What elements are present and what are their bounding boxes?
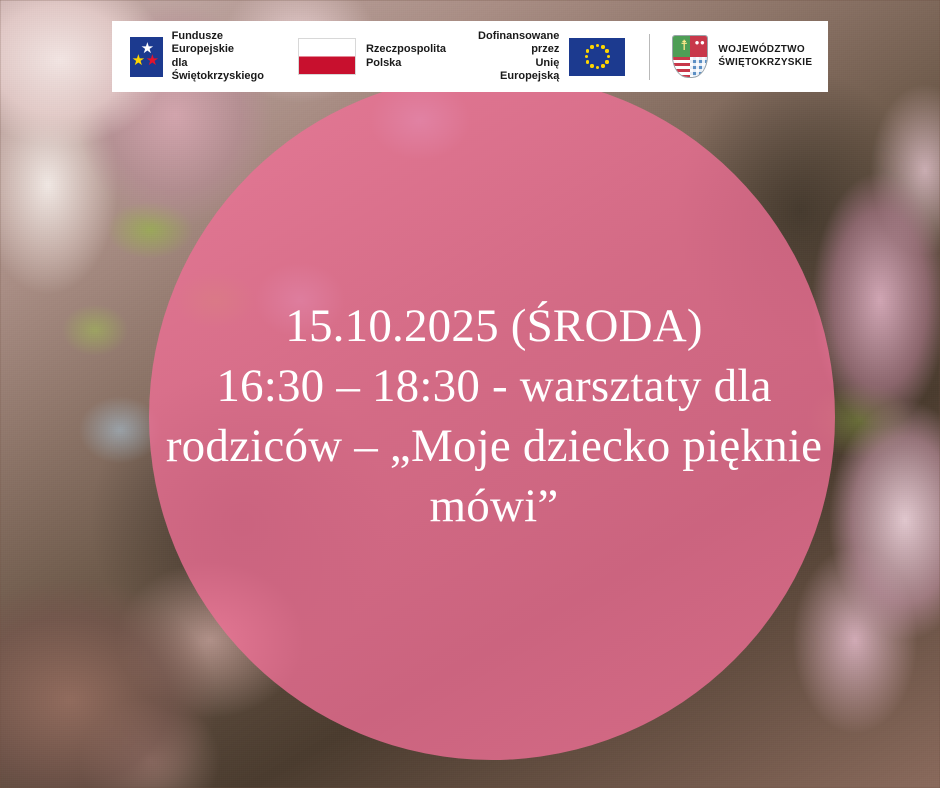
logo-fundusze-europejskie: ★ ★ ★ Fundusze Europejskie dla Świętokrz… bbox=[130, 21, 264, 92]
funding-logo-banner: ★ ★ ★ Fundusze Europejskie dla Świętokrz… bbox=[112, 21, 828, 92]
logo-label-wojewodztwo-swietokrzyskie: WOJEWÓDZTWO ŚWIĘTOKRZYSKIE bbox=[718, 44, 812, 68]
logo-label-dofinansowane-przez-ue: Dofinansowane przez Unię Europejską bbox=[478, 30, 559, 84]
eagles-icon: ●● bbox=[695, 39, 706, 47]
shield-quarter-checks bbox=[690, 57, 707, 78]
patriarchal-cross-icon: ☨ bbox=[680, 40, 688, 54]
eu-stars-circle bbox=[569, 38, 625, 76]
logo-wojewodztwo-swietokrzyskie: ☨ ●● WOJEWÓDZTWO ŚWIĘTOKRZYSKIE bbox=[672, 21, 812, 92]
fundusze-europejskie-flag-icon: ★ ★ ★ bbox=[130, 37, 163, 77]
swietokrzyskie-coat-of-arms-icon: ☨ ●● bbox=[672, 35, 708, 78]
logo-rzeczpospolita-polska: Rzeczpospolita Polska bbox=[298, 21, 446, 92]
banner-divider bbox=[649, 34, 650, 80]
logo-dofinansowane-przez-ue: Dofinansowane przez Unię Europejską bbox=[478, 21, 625, 92]
star-yellow-icon: ★ bbox=[132, 54, 145, 69]
star-red-icon: ★ bbox=[146, 54, 159, 69]
polish-flag-icon bbox=[298, 38, 356, 75]
shield-quarter-stripes bbox=[673, 57, 690, 78]
logo-label-rzeczpospolita-polska: Rzeczpospolita Polska bbox=[366, 43, 446, 70]
event-headline: 15.10.2025 (ŚRODA) 16:30 – 18:30 - warsz… bbox=[150, 296, 838, 536]
poster-canvas: 15.10.2025 (ŚRODA) 16:30 – 18:30 - warsz… bbox=[0, 0, 940, 788]
european-union-flag-icon bbox=[569, 38, 625, 76]
logo-label-fundusze-europejskie: Fundusze Europejskie dla Świętokrzyskieg… bbox=[172, 30, 264, 84]
